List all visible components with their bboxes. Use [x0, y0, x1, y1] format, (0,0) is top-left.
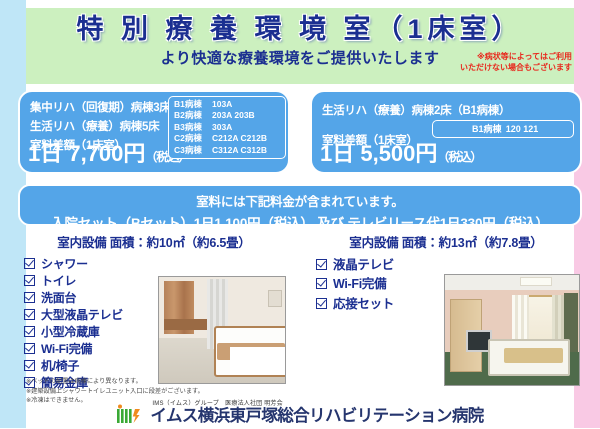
list-item: 洗面台 — [24, 290, 123, 307]
panel-left-line1: 集中リハ（回復期）病棟3床 — [30, 99, 171, 115]
room-row: B1病棟103A — [174, 99, 280, 110]
list-item-label: 洗面台 — [41, 291, 76, 305]
photo-baseboard — [164, 319, 212, 330]
room-row: B2病棟203A 203B — [174, 110, 280, 121]
checkbox-checked-icon — [24, 360, 35, 371]
ims-logo-icon — [116, 404, 146, 424]
list-item-label: 液晶テレビ — [333, 258, 394, 272]
list-item: 机/椅子 — [24, 358, 123, 375]
checkbox-checked-icon — [316, 278, 327, 289]
availability-warning-line1: ※病状等によってはご利用 — [446, 52, 572, 63]
room-row: C2病棟C212A C212B — [174, 133, 280, 144]
checkbox-checked-icon — [316, 298, 327, 309]
room-number-box-right: B1病棟120 121 — [432, 120, 574, 138]
list-item: 応接セット — [316, 295, 394, 314]
panel-right-line1: 生活リハ（療養）病棟2床（B1病棟） — [322, 102, 510, 118]
equipment-body-right: 液晶テレビ Wi-Fi完備 応接セット — [310, 256, 582, 384]
included-fees-line1: 室料には下記料金が含まれています。 — [20, 191, 580, 210]
list-item-label: 机/椅子 — [41, 359, 79, 373]
room-numbers: 120 121 — [506, 124, 539, 134]
photo-bed-rail — [504, 348, 563, 363]
list-item-label: トイレ — [41, 274, 76, 288]
corporate-group-name: IMS（イムス）グループ 医療法人社団 明芳会 — [152, 398, 483, 407]
page-title: 特 別 療 養 環 境 室（1床室） — [26, 8, 574, 45]
equipment-body-left: シャワー トイレ 洗面台 大型液晶テレビ 小型冷蔵庫 Wi-Fi完備 机/椅子 … — [18, 256, 290, 384]
checkbox-checked-icon — [24, 343, 35, 354]
footnote: ※建築設備上シャワートイレユニット入口に段差がございます。 — [26, 387, 276, 397]
price-panel-left: 集中リハ（回復期）病棟3床 生活リハ（療養）病棟5床 室料差額（1床室） 1日 … — [18, 90, 290, 174]
price-panel-right: 生活リハ（療養）病棟2床（B1病棟） 室料差額（1床室） 1日 5,500円（税… — [310, 90, 582, 174]
panel-right-price: 1日 5,500円（税込） — [320, 136, 481, 168]
panel-right-price-tax: （税込） — [437, 150, 481, 164]
list-item-label: 大型液晶テレビ — [41, 308, 123, 322]
list-item-label: 小型冷蔵庫 — [41, 325, 100, 339]
panel-left-price: 1日 7,700円（税込） — [28, 136, 189, 168]
room-numbers: C212A C212B — [212, 133, 267, 143]
room-ward: C2病棟 — [174, 133, 212, 144]
included-fees-band: 室料には下記料金が含まれています。 入院セット（Bセット）1日1,100円（税込… — [18, 184, 582, 226]
hospital-logo-inner: IMS（イムス）グループ 医療法人社団 明芳会 イムス横浜東戸塚総合リハビリテー… — [116, 398, 483, 425]
room-ward: B1病棟 — [468, 123, 506, 135]
panel-left-price-value: 1日 7,700円 — [28, 141, 145, 166]
photo-bed-sheet — [230, 347, 285, 375]
availability-warning: ※病状等によってはご利用 いただけない場合もございます — [446, 52, 572, 74]
list-item-label: 応接セット — [333, 297, 394, 311]
checkbox-checked-icon — [316, 259, 327, 270]
room-photo-right — [444, 274, 580, 386]
room-numbers: C312A C312B — [212, 145, 267, 155]
hospital-name: イムス横浜東戸塚総合リハビリテーション病院 — [150, 407, 483, 425]
room-numbers: 203A 203B — [212, 110, 255, 120]
room-row: B1病棟120 121 — [438, 123, 568, 135]
equipment-list-left: シャワー トイレ 洗面台 大型液晶テレビ 小型冷蔵庫 Wi-Fi完備 机/椅子 … — [24, 256, 123, 392]
room-photo-left — [158, 276, 286, 384]
room-ward: C3病棟 — [174, 145, 212, 156]
photo-ceiling — [445, 275, 579, 290]
list-item: 小型冷蔵庫 — [24, 324, 123, 341]
checkbox-checked-icon — [24, 292, 35, 303]
list-item-label: シャワー — [41, 257, 88, 271]
panel-left-line2: 生活リハ（療養）病棟5床 — [30, 118, 159, 134]
room-number-box-left: B1病棟103A B2病棟203A 203B B3病棟303A C2病棟C212… — [168, 96, 286, 159]
panel-right-price-value: 1日 5,500円 — [320, 141, 437, 166]
room-ward: B1病棟 — [174, 99, 212, 110]
room-numbers: 103A — [212, 99, 232, 109]
list-item: トイレ — [24, 273, 123, 290]
equipment-section-right: 室内設備 面積：約13㎡（約7.8畳） 液晶テレビ Wi-Fi完備 応接セット — [310, 232, 582, 384]
availability-warning-line2: いただけない場合もございます — [446, 63, 572, 74]
equipment-heading-left: 室内設備 面積：約10㎡（約6.5畳） — [18, 232, 290, 251]
poster-root: 特 別 療 養 環 境 室（1床室） より快適な療養環境をご提供いたします ※病… — [0, 0, 600, 428]
checkbox-checked-icon — [24, 309, 35, 320]
hospital-logo-block: IMS（イムス）グループ 医療法人社団 明芳会 イムス横浜東戸塚総合リハビリテー… — [0, 398, 600, 426]
checkbox-checked-icon — [24, 326, 35, 337]
list-item: Wi-Fi完備 — [316, 275, 394, 294]
header-band: 特 別 療 養 環 境 室（1床室） より快適な療養環境をご提供いたします ※病… — [26, 8, 574, 84]
checkbox-checked-icon — [24, 275, 35, 286]
footnote: ※ベッドの配置は病棟により異なります。 — [26, 377, 276, 387]
photo-ceiling-light — [520, 277, 551, 286]
room-ward: B3病棟 — [174, 122, 212, 133]
room-row: C3病棟C312A C312B — [174, 145, 280, 156]
equipment-section-left: 室内設備 面積：約10㎡（約6.5畳） シャワー トイレ 洗面台 大型液晶テレビ… — [18, 232, 290, 384]
photo-wall-fixture — [268, 290, 283, 307]
included-fees-line2: 入院セット（Bセット）1日1,100円（税込） 及び テレビリース代1日330円… — [20, 212, 580, 232]
equipment-heading-right: 室内設備 面積：約13㎡（約7.8畳） — [310, 232, 582, 251]
room-row: B3病棟303A — [174, 122, 280, 133]
equipment-list-right: 液晶テレビ Wi-Fi完備 応接セット — [316, 256, 394, 314]
checkbox-checked-icon — [24, 258, 35, 269]
room-ward: B2病棟 — [174, 110, 212, 121]
list-item-label: Wi-Fi完備 — [41, 342, 92, 356]
room-numbers: 303A — [212, 122, 232, 132]
list-item: シャワー — [24, 256, 123, 273]
list-item: 液晶テレビ — [316, 256, 394, 275]
list-item-label: Wi-Fi完備 — [333, 277, 386, 291]
list-item: Wi-Fi完備 — [24, 341, 123, 358]
list-item: 大型液晶テレビ — [24, 307, 123, 324]
